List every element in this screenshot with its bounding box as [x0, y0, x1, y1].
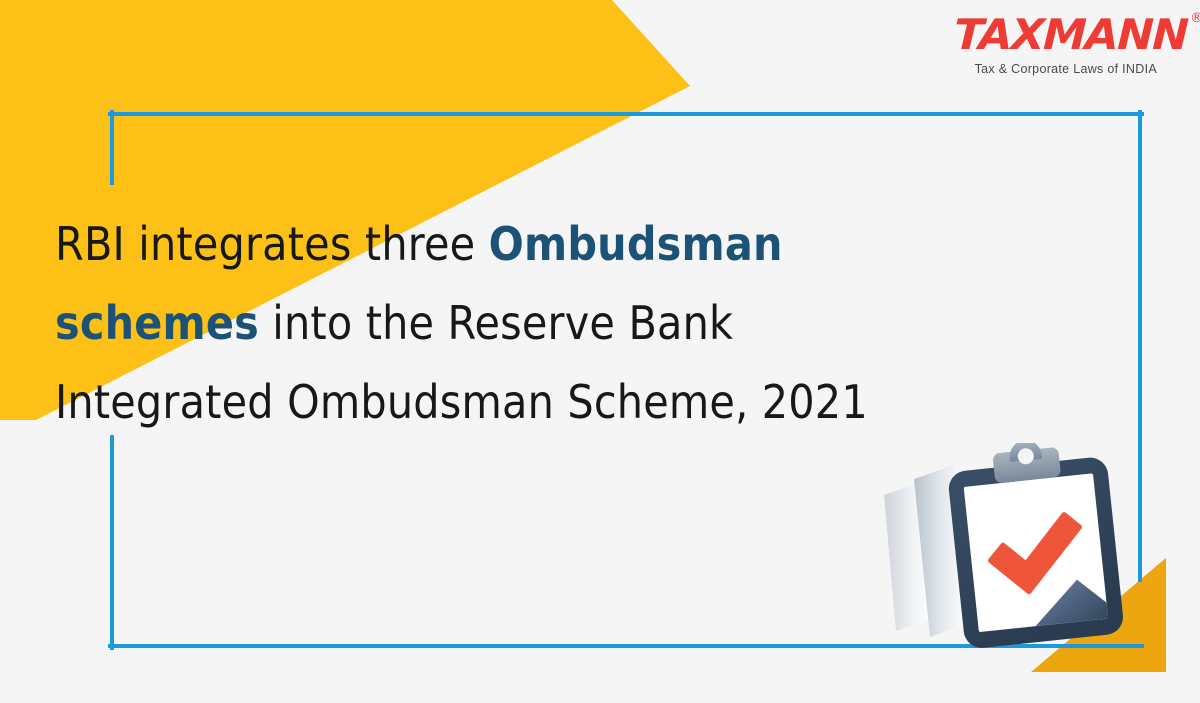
logo-tagline: Tax & Corporate Laws of INDIA — [954, 63, 1178, 76]
headline-line-2: schemes into the Reserve Bank — [55, 284, 935, 363]
promo-banner: TAXMANN ® Tax & Corporate Laws of INDIA … — [0, 0, 1200, 703]
headline-line-1-plain: RBI integrates three — [55, 217, 489, 271]
taxmann-logo: TAXMANN ® Tax & Corporate Laws of INDIA — [954, 14, 1178, 76]
registered-trademark-icon: ® — [1189, 12, 1200, 25]
logo-wordmark-text: TAXMANN — [953, 10, 1188, 59]
headline-highlight-schemes: schemes — [55, 296, 259, 350]
logo-wordmark: TAXMANN ® — [953, 14, 1188, 56]
headline-line-2-plain: into the Reserve Bank — [259, 296, 733, 350]
headline-line-1: RBI integrates three Ombudsman — [55, 205, 935, 284]
headline-highlight-ombudsman: Ombudsman — [489, 217, 783, 271]
clipboard-with-checkmark-illustration — [878, 443, 1148, 658]
headline-line-3: Integrated Ombudsman Scheme, 2021 — [55, 363, 935, 442]
headline: RBI integrates three Ombudsman schemes i… — [55, 205, 935, 442]
